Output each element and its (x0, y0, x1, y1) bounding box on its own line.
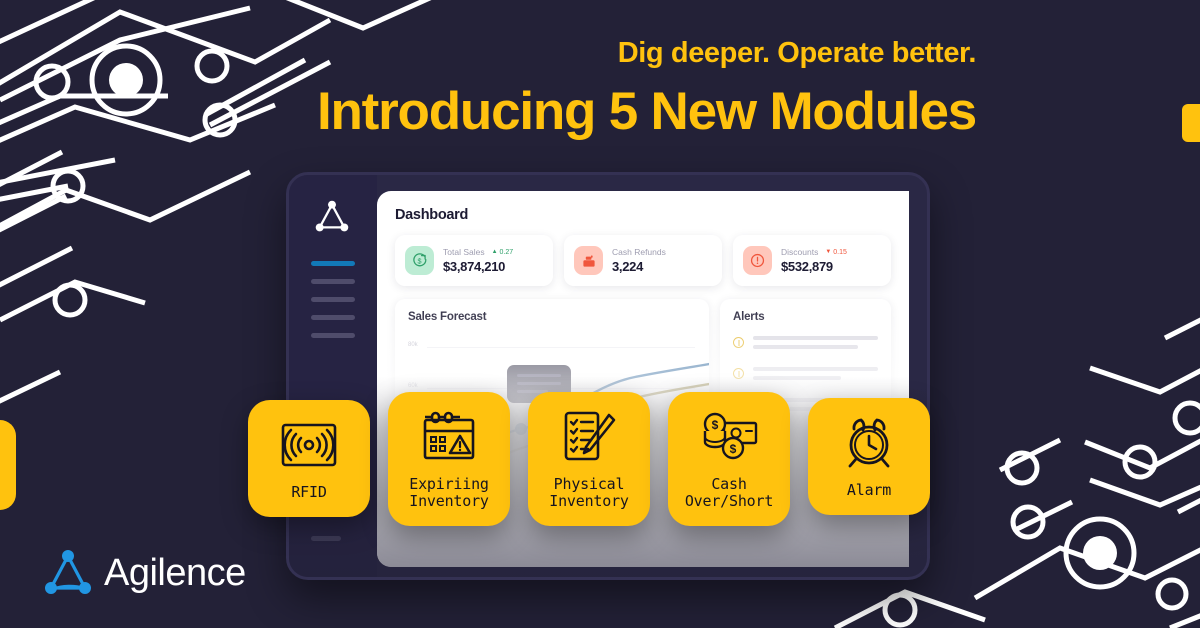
alert-exclamation-circle-icon (743, 246, 772, 275)
sidebar-item-footer[interactable] (311, 536, 341, 541)
sales-dollar-arrow-icon: $ (405, 246, 434, 275)
list-item[interactable] (733, 367, 878, 385)
module-label: RFID (256, 484, 362, 501)
triangle-down-icon: ▼ (825, 249, 831, 255)
page-title: Introducing 5 New Modules (0, 83, 976, 141)
accent-bar-right (1182, 104, 1200, 142)
kpi-label: Cash Refunds (612, 247, 666, 257)
sidebar-item-active[interactable] (311, 261, 355, 266)
kpi-label: Total Sales (443, 247, 485, 257)
alarm-clock-icon (816, 412, 922, 474)
cash-register-icon (574, 246, 603, 275)
module-tile-alarm[interactable]: Alarm (808, 398, 930, 515)
module-label: Expiriing Inventory (396, 476, 502, 510)
calendar-warning-icon (396, 406, 502, 468)
y-axis-tick: 80k (408, 342, 418, 348)
svg-text:$: $ (712, 418, 719, 432)
module-label: Alarm (816, 482, 922, 499)
kicker-text: Dig deeper. Operate better. (0, 38, 976, 70)
accent-bar-left (0, 420, 16, 510)
kpi-card-discounts[interactable]: Discounts ▼ 0.15 $532,879 (733, 235, 891, 286)
sidebar-item[interactable] (311, 297, 355, 302)
sidebar-nav[interactable] (311, 261, 355, 351)
kpi-card-row: $ Total Sales ▲ 0.27 $3,874,2 (395, 235, 891, 286)
agilence-triangle-icon (42, 548, 94, 598)
headline-block: Dig deeper. Operate better. Introducing … (0, 38, 1000, 141)
triangle-up-icon: ▲ (492, 249, 498, 255)
sidebar-item[interactable] (311, 315, 355, 320)
kpi-label: Discounts (781, 247, 818, 257)
rfid-signal-icon (256, 414, 362, 476)
svg-text:$: $ (417, 257, 421, 266)
sidebar-item[interactable] (311, 279, 355, 284)
promo-banner: Dig deeper. Operate better. Introducing … (0, 0, 1200, 628)
module-label: Physical Inventory (536, 476, 642, 510)
module-tile-cash-over-short[interactable]: $ $ Cash Over/Short (668, 392, 790, 526)
kpi-card-cash-refunds[interactable]: Cash Refunds 3,224 (564, 235, 722, 286)
module-tile-physical-inventory[interactable]: Physical Inventory (528, 392, 650, 526)
kpi-value: 3,224 (612, 259, 666, 274)
brand-name: Agilence (104, 552, 246, 595)
brand-logo: Agilence (42, 548, 246, 598)
kpi-card-total-sales[interactable]: $ Total Sales ▲ 0.27 $3,874,2 (395, 235, 553, 286)
kpi-value: $532,879 (781, 259, 847, 274)
module-tile-rfid[interactable]: RFID (248, 400, 370, 517)
page-title-dashboard: Dashboard (395, 207, 891, 223)
panel-title: Sales Forecast (408, 311, 696, 323)
alert-warning-icon (733, 368, 744, 379)
kpi-value: $3,874,210 (443, 259, 513, 274)
module-tile-row: RFID Expiriing Inve (248, 392, 964, 526)
alert-warning-icon (733, 337, 744, 348)
kpi-delta-down: ▼ 0.15 (825, 249, 847, 256)
agilence-triangle-icon (313, 199, 351, 235)
svg-text:$: $ (730, 442, 737, 456)
sidebar-item[interactable] (311, 333, 355, 338)
list-item[interactable] (733, 336, 878, 354)
module-label: Cash Over/Short (676, 476, 782, 510)
clipboard-pencil-icon (536, 406, 642, 468)
cash-coins-bill-icon: $ $ (676, 406, 782, 468)
kpi-delta-up: ▲ 0.27 (492, 249, 514, 256)
module-tile-expiring-inventory[interactable]: Expiriing Inventory (388, 392, 510, 526)
y-axis-tick: 60k (408, 383, 418, 389)
panel-title: Alerts (733, 311, 878, 323)
